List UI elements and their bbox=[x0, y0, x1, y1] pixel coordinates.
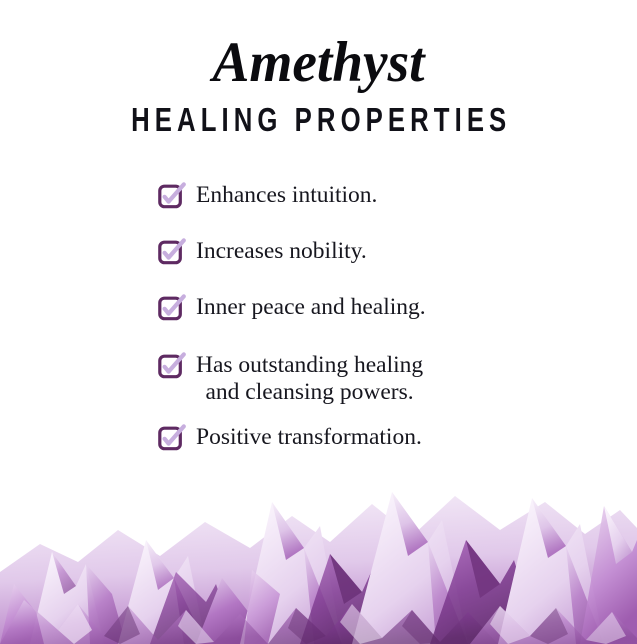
poster-canvas: Amethyst HEALING PROPERTIES Enhances int… bbox=[0, 0, 637, 644]
list-item: Inner peace and healing. bbox=[0, 294, 637, 321]
poster-header: Amethyst HEALING PROPERTIES bbox=[0, 0, 637, 136]
list-item-label: Positive transformation. bbox=[196, 424, 422, 451]
list-item-label: Enhances intuition. bbox=[196, 182, 377, 209]
page-subtitle: HEALING PROPERTIES bbox=[70, 91, 567, 136]
list-item-label: Inner peace and healing. bbox=[196, 294, 426, 321]
list-item: Positive transformation. bbox=[0, 424, 637, 451]
list-item: Enhances intuition. bbox=[0, 182, 637, 209]
list-item-label: Has outstanding healing and cleansing po… bbox=[196, 352, 423, 406]
list-item: Has outstanding healing and cleansing po… bbox=[0, 352, 637, 406]
list-item: Increases nobility. bbox=[0, 238, 637, 265]
checkbox-checked-icon bbox=[158, 427, 182, 451]
checkbox-checked-icon bbox=[158, 185, 182, 209]
checkbox-checked-icon bbox=[158, 297, 182, 321]
amethyst-crystal-cluster-image bbox=[0, 444, 637, 644]
checkbox-checked-icon bbox=[158, 241, 182, 265]
list-item-label: Increases nobility. bbox=[196, 238, 367, 265]
page-title: Amethyst bbox=[10, 34, 628, 91]
checkbox-checked-icon bbox=[158, 355, 182, 379]
